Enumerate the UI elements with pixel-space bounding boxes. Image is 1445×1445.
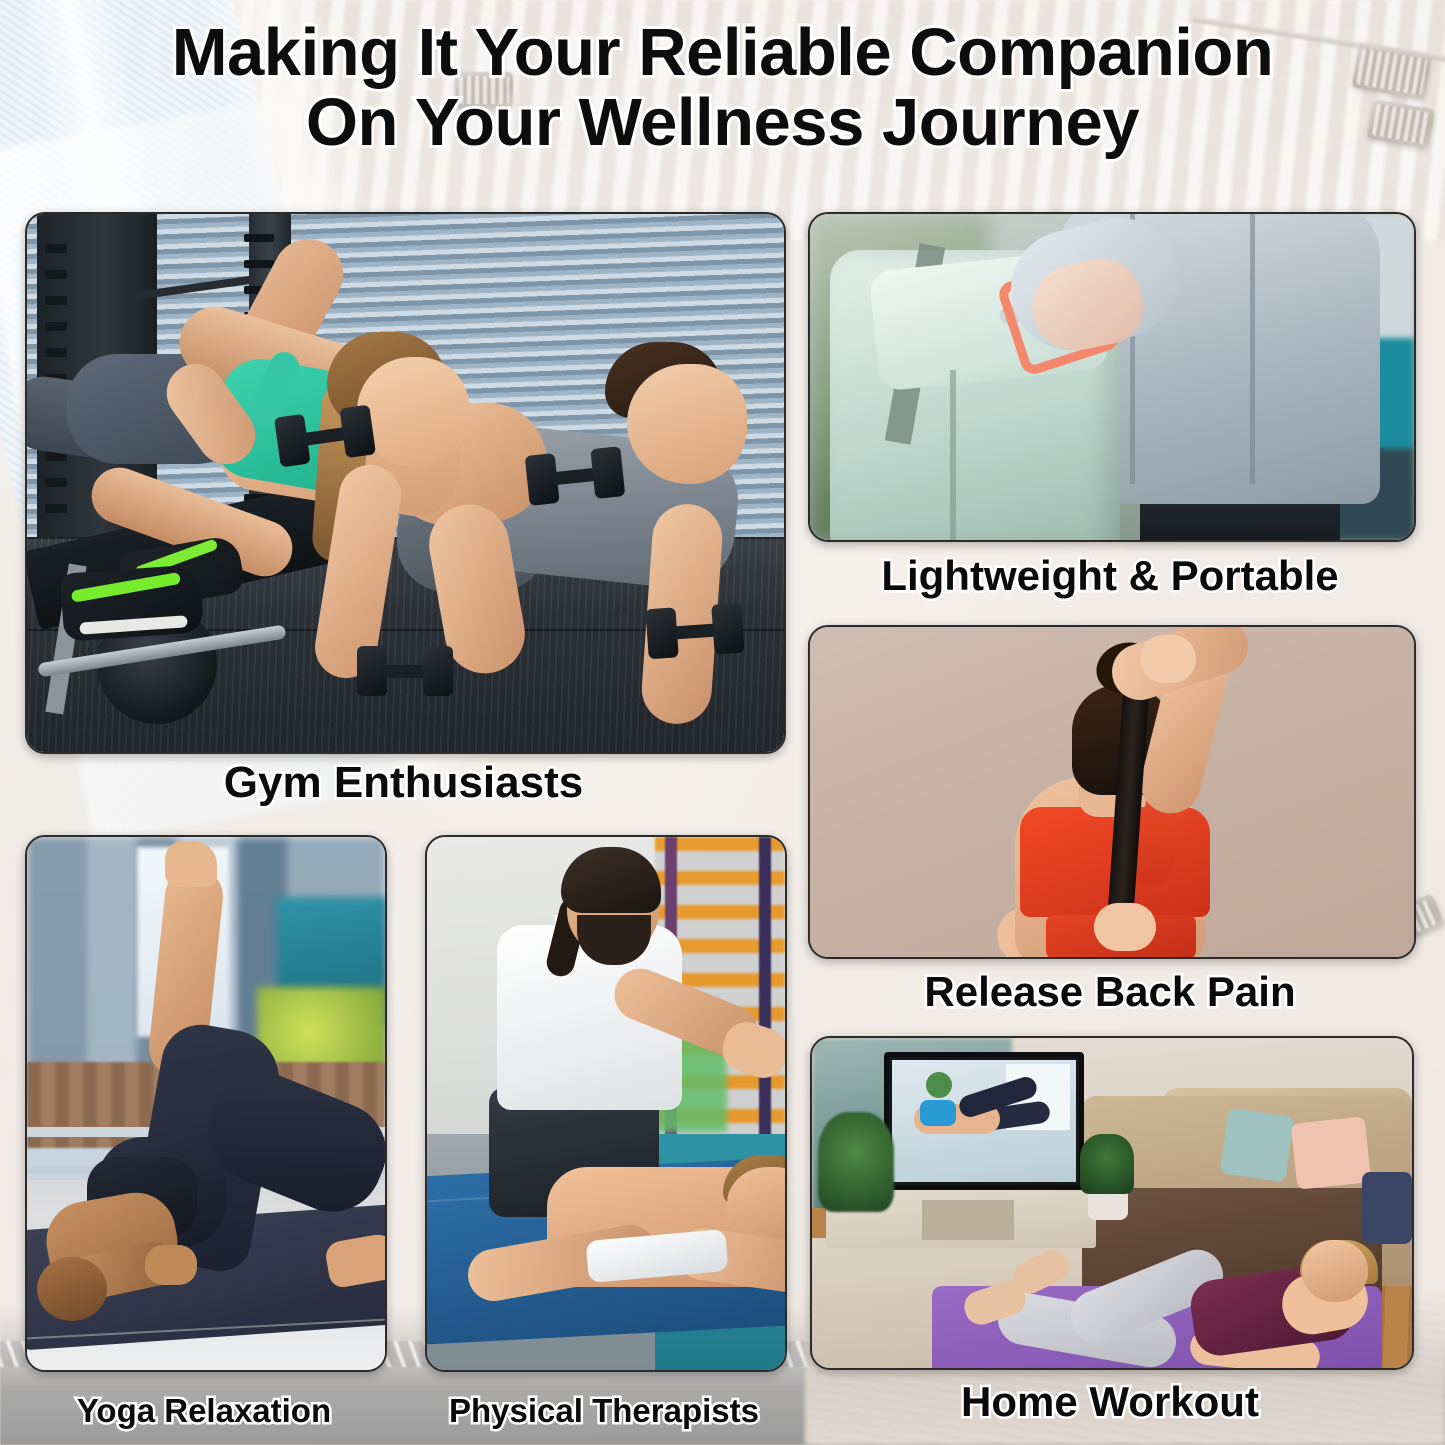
panel-lightweight-portable — [808, 212, 1416, 542]
hand — [145, 1245, 197, 1285]
raised-foot — [165, 841, 217, 887]
panel-gym-enthusiasts — [25, 212, 786, 754]
panel-yoga-relaxation — [25, 835, 387, 1372]
lower-hand — [1094, 903, 1156, 951]
photo-release-back-pain — [810, 627, 1414, 957]
photo-home-workout — [812, 1038, 1412, 1368]
photo-gym-enthusiasts — [27, 214, 784, 752]
tv-scene-plant — [926, 1072, 952, 1098]
television — [884, 1052, 1084, 1190]
tv-screen — [892, 1060, 1076, 1182]
headline-block: Making It Your Reliable Companion On You… — [0, 18, 1445, 157]
caption-yoga-relaxation: Yoga Relaxation — [25, 1392, 383, 1430]
caption-gym-enthusiasts: Gym Enthusiasts — [25, 758, 782, 808]
dumbbell-woman-floor — [357, 654, 453, 688]
cushion-pink — [1291, 1116, 1371, 1189]
caption-lightweight-portable: Lightweight & Portable — [808, 552, 1412, 600]
panel-release-back-pain — [808, 625, 1416, 959]
headline-line-2: On Your Wellness Journey — [0, 88, 1445, 158]
woman-head — [1302, 1240, 1368, 1302]
panel-physical-therapists — [425, 835, 787, 1372]
caption-release-back-pain: Release Back Pain — [808, 968, 1412, 1016]
upper-hand — [1140, 635, 1196, 683]
photo-yoga-relaxation — [27, 837, 385, 1370]
cushion-navy — [1362, 1172, 1412, 1244]
head — [37, 1257, 107, 1321]
tv-scene-blue-top — [920, 1100, 956, 1126]
side-plant — [1080, 1134, 1134, 1194]
caption-home-workout: Home Workout — [810, 1378, 1410, 1426]
wall-bar-post-1 — [759, 837, 771, 1167]
floor-plant — [818, 1112, 894, 1212]
caption-physical-therapists: Physical Therapists — [425, 1392, 783, 1430]
photo-physical-therapists — [427, 837, 785, 1370]
dumbbell-man-floor — [646, 611, 744, 652]
photo-lightweight-portable — [810, 214, 1414, 540]
headline-line-1: Making It Your Reliable Companion — [0, 18, 1445, 88]
panel-home-workout — [810, 1036, 1414, 1370]
man-head — [627, 364, 747, 484]
woman-shoe-front — [60, 564, 204, 642]
backpack-seam — [950, 370, 956, 540]
dumbbell-woman-raised — [275, 412, 375, 459]
dumbbell-man-raised — [525, 454, 624, 498]
cushion-teal — [1220, 1108, 1295, 1183]
